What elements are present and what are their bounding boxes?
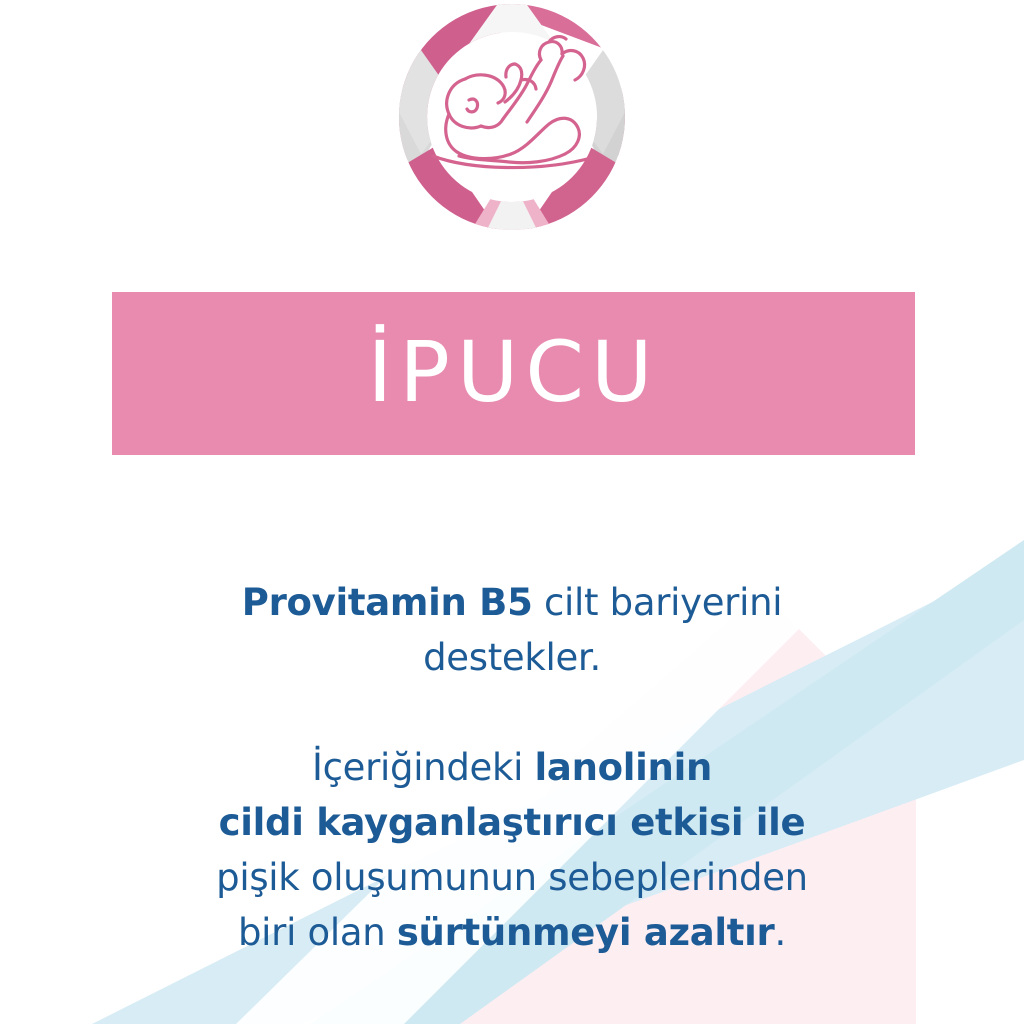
tip-body: Provitamin B5 cilt bariyerini destekler.… (0, 575, 1024, 960)
logo-inner-field (428, 33, 596, 201)
banner-title: İPUCU (367, 330, 659, 414)
text-surtunmeyi-azaltir: sürtünmeyi azaltır (397, 911, 775, 954)
tip-banner: İPUCU (112, 292, 915, 455)
text-cilt-bariyerini: cilt bariyerini (533, 581, 783, 624)
tip-card: İPUCU Provitamin B5 cilt bariyerini dest… (0, 0, 1024, 1024)
text-icerigindeki: İçeriğindeki (312, 746, 535, 789)
paragraph-2: İçeriğindeki lanolinin cildi kayganlaştı… (0, 740, 1024, 960)
text-period: . (775, 911, 786, 954)
baby-logo-icon (399, 4, 625, 230)
text-lanolinin: lanolinin (535, 746, 712, 789)
text-destekler: destekler. (423, 636, 601, 679)
text-cildi-kayganlastirici: cildi kayganlaştırıcı etkisi ile (219, 801, 806, 844)
text-provitamin-b5: Provitamin B5 (242, 581, 533, 624)
text-pisik-olusumunun: pişik oluşumunun sebeplerinden (216, 856, 808, 899)
brand-logo (399, 4, 625, 230)
paragraph-1: Provitamin B5 cilt bariyerini destekler. (0, 575, 1024, 685)
text-biri-olan: biri olan (238, 911, 397, 954)
